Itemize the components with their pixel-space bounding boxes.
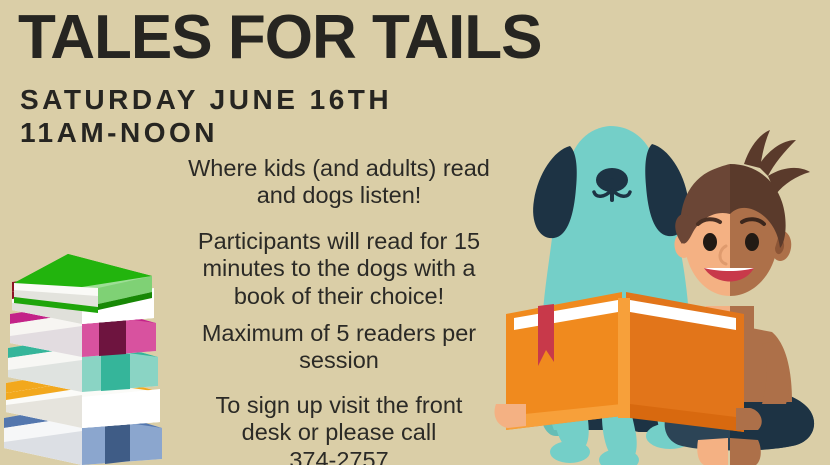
signup-paragraph: To sign up visit the front desk or pleas…: [163, 392, 515, 465]
details-paragraph: Participants will read for 15 minutes to…: [163, 228, 515, 310]
tagline-line: and dogs listen!: [163, 182, 515, 209]
poster-canvas: TALES FOR TAILS SATURDAY JUNE 16TH 11AM-…: [0, 0, 830, 465]
magenta-book: [10, 303, 156, 357]
capacity-paragraph: Maximum of 5 readers per session: [163, 320, 515, 375]
dog-paw-left: [550, 441, 590, 463]
signup-line: To sign up visit the front: [163, 392, 515, 419]
book-stack-icon: [2, 252, 164, 465]
details-line: book of their choice!: [163, 283, 515, 310]
green-book: [14, 254, 152, 313]
tagline-line: Where kids (and adults) read: [163, 155, 515, 182]
boy-mouth: [704, 268, 754, 282]
book-pages-right: [626, 294, 740, 330]
red-book: [12, 272, 154, 324]
blue-book: [4, 404, 162, 465]
boy-ear: [772, 230, 791, 261]
dog-leg-shadow-right: [622, 332, 660, 432]
dog-nose: [594, 168, 630, 200]
boy-icon: [495, 130, 815, 465]
dog-leg-shadow-left: [570, 310, 608, 430]
open-book-icon: [506, 292, 744, 432]
book-cover-left: [506, 292, 622, 430]
boy-hand-right: [736, 408, 762, 430]
boy-hair-spike: [744, 130, 770, 168]
tagline-paragraph: Where kids (and adults) read and dogs li…: [163, 155, 515, 210]
event-time: 11AM-NOON: [20, 117, 218, 149]
boy-eye-left: [703, 233, 717, 251]
dog-icon: [532, 126, 694, 465]
boy-torso-left: [670, 324, 730, 402]
boy-hair-spike: [758, 140, 796, 176]
boy-pants-right: [730, 386, 814, 451]
boy-face-right: [730, 178, 778, 296]
boy-eye-right: [745, 233, 759, 251]
page-title: TALES FOR TAILS: [18, 8, 541, 69]
boy-hair-left: [680, 164, 730, 244]
teal-book: [8, 336, 158, 392]
book-bookmark: [538, 304, 554, 366]
book-cover-right: [626, 292, 744, 432]
boy-hair-spike: [768, 168, 810, 194]
boy-teeth: [704, 268, 754, 271]
boy-hair-right: [730, 164, 786, 248]
boy-torso-right: [730, 324, 792, 402]
phone-number: 374-2757: [163, 447, 515, 465]
boy-pants-left: [665, 386, 814, 451]
dog-left-ear: [533, 146, 577, 238]
details-line: minutes to the dogs with a: [163, 255, 515, 282]
details-line: Participants will read for 15: [163, 228, 515, 255]
dog-paw-right: [599, 449, 639, 465]
dog-right-ear: [645, 144, 689, 236]
book-pages-left: [510, 294, 622, 332]
signup-line: desk or please call: [163, 419, 515, 446]
capacity-line: session: [163, 347, 515, 374]
event-date: SATURDAY JUNE 16TH: [20, 84, 392, 116]
boy-face-left: [684, 178, 730, 296]
dog-rear-paw: [646, 423, 694, 449]
dog-and-boy-illustration: [492, 118, 830, 465]
amber-book: [6, 370, 160, 428]
capacity-line: Maximum of 5 readers per: [163, 320, 515, 347]
